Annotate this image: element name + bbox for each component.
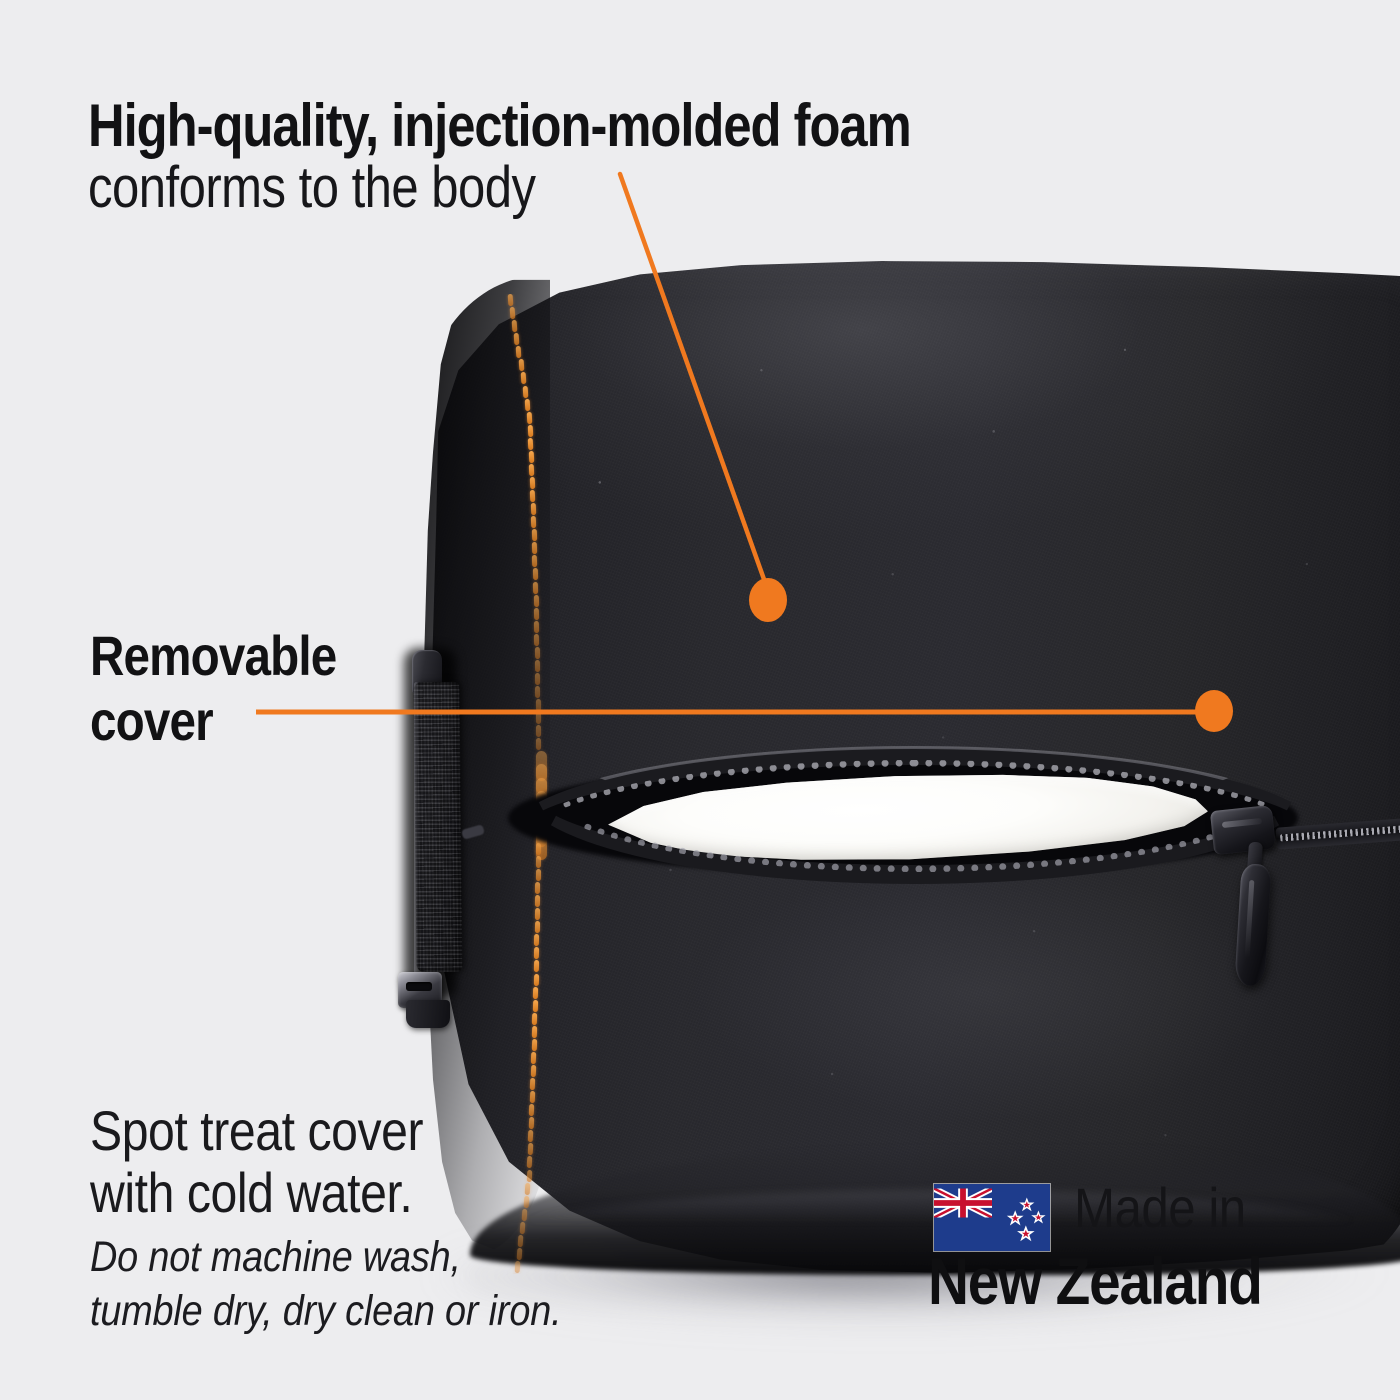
made-in-line-1: Made in (1074, 1180, 1303, 1236)
made-in-line-2: New Zealand (928, 1248, 1277, 1314)
callout-cover-headline-line2: cover (90, 689, 371, 754)
care-main-line-2: with cold water. (90, 1162, 572, 1224)
made-in-badge: Made in New Zealand (934, 1180, 1334, 1330)
nz-flag-svg (934, 1184, 1050, 1251)
callout-label-cover: Removable cover (90, 624, 420, 754)
callout-foam-headline: High-quality, injection-molded foam (88, 96, 789, 156)
callout-label-foam: High-quality, injection-molded foam conf… (88, 96, 918, 221)
new-zealand-flag-icon (934, 1184, 1050, 1251)
strap-buckle-slot (406, 982, 432, 991)
care-instructions: Spot treat cover with cold water. Do not… (90, 1100, 650, 1338)
callout-cover-headline-line1: Removable (90, 624, 371, 689)
made-in-text: Made in New Zealand (1074, 1180, 1334, 1314)
callout-foam-subline: conforms to the body (88, 156, 789, 221)
care-sub-block: Do not machine wash, tumble dry, dry cle… (90, 1231, 650, 1338)
care-main-line-1: Spot treat cover (90, 1100, 572, 1162)
zipper-slider (1210, 805, 1276, 855)
zipper-assembly (470, 730, 1400, 960)
infographic-canvas: High-quality, injection-molded foam conf… (0, 0, 1400, 1400)
zipper-tape-highlight (514, 746, 1314, 830)
care-sub-line-1: Do not machine wash, (90, 1231, 583, 1284)
care-sub-line-2: tumble dry, dry clean or iron. (90, 1285, 583, 1338)
webbing-strap (413, 682, 462, 972)
strap-tail-end (406, 1000, 450, 1028)
